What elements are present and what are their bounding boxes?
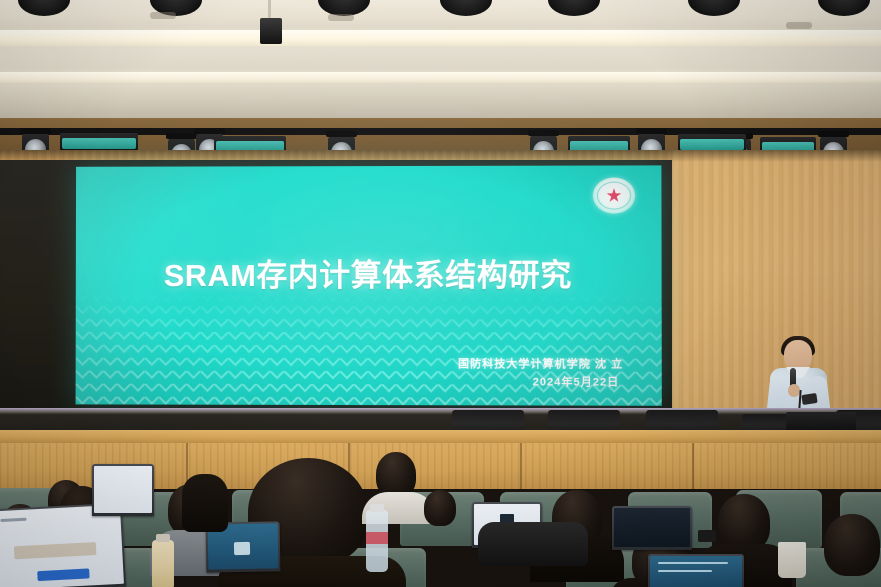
stage-ledge	[0, 430, 881, 444]
ceiling-vent-icon	[328, 14, 354, 21]
laptop-screen	[94, 466, 152, 513]
auditorium-presentation-photo: SRAM存内计算体系结构研究 国防科技大学计算机学院 沈 立 2024年5月22…	[0, 0, 881, 587]
audience-head	[824, 514, 880, 576]
bottle-cap	[156, 534, 170, 542]
ceiling-light-strip-upper	[0, 30, 881, 46]
projection-screen: SRAM存内计算体系结构研究 国防科技大学计算机学院 沈 立 2024年5月22…	[76, 165, 662, 405]
stage-light-lens	[680, 139, 744, 150]
bottle-label	[366, 532, 388, 544]
audience-area	[0, 444, 881, 587]
paper-cup	[778, 542, 806, 578]
presenter-head	[784, 340, 812, 371]
slide-affiliation-speaker: 国防科技大学计算机学院 沈 立	[458, 355, 623, 371]
laptop-screen	[614, 508, 690, 547]
bottle-cap	[370, 504, 384, 512]
audience-bag	[182, 474, 228, 532]
laptop-screen	[0, 505, 124, 587]
presenter-phone	[801, 393, 817, 405]
university-emblem-icon	[593, 178, 635, 214]
audience-laptop[interactable]	[648, 554, 744, 587]
drink-bottle	[152, 540, 174, 587]
stage-light-lens	[62, 138, 136, 149]
slide-title: SRAM存内计算体系结构研究	[76, 250, 662, 295]
audience-laptop[interactable]	[92, 464, 154, 516]
ceiling-mounted-projector	[260, 18, 282, 44]
ceiling-vent-icon	[150, 12, 176, 19]
audience-bag	[478, 522, 588, 566]
audience-head	[424, 490, 456, 526]
audience-laptop[interactable]	[612, 506, 692, 550]
laptop-screen	[650, 556, 742, 587]
presenter-hand	[788, 384, 800, 397]
hanging-rod	[268, 0, 271, 20]
slide-date: 2024年5月22日	[533, 373, 620, 389]
audience-phone[interactable]	[698, 530, 716, 542]
ceiling-vent-icon	[786, 22, 812, 29]
